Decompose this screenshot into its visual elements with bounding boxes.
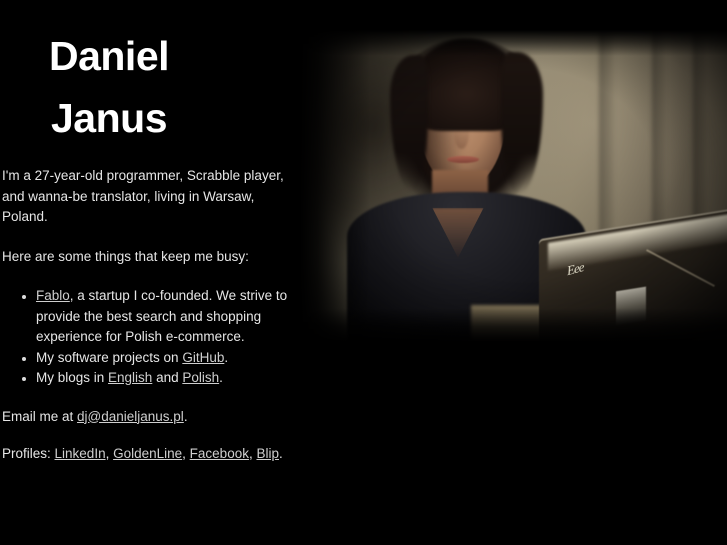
link-blog-english[interactable]: English — [108, 370, 152, 385]
link-profile-goldenline[interactable]: GoldenLine — [113, 446, 182, 461]
page-title-line-2: Janus — [51, 95, 167, 141]
link-fablo[interactable]: Fablo — [36, 288, 70, 303]
portrait-photo: Eee — [300, 30, 727, 342]
lead-paragraph: Here are some things that keep me busy: — [0, 247, 296, 268]
link-profile-blip[interactable]: Blip — [256, 446, 279, 461]
email-prefix: Email me at — [2, 409, 77, 424]
profiles-prefix: Profiles: — [2, 446, 55, 461]
link-github[interactable]: GitHub — [182, 350, 224, 365]
list-item-text: . — [219, 370, 223, 385]
page-title: Daniel Janus — [0, 0, 296, 149]
profiles-separator: , — [106, 446, 114, 461]
intro-paragraph: I'm a 27-year-old programmer, Scrabble p… — [0, 166, 296, 228]
content-column: Daniel Janus I'm a 27-year-old programme… — [0, 0, 296, 465]
list-item-text: My blogs in — [36, 370, 108, 385]
profiles-separator: , — [182, 446, 190, 461]
link-blog-polish[interactable]: Polish — [182, 370, 219, 385]
email-suffix: . — [184, 409, 188, 424]
list-item-text: My software projects on — [36, 350, 182, 365]
profiles-line: Profiles: LinkedIn, GoldenLine, Facebook… — [0, 444, 296, 465]
page-title-line-1: Daniel — [49, 33, 169, 79]
things-list: Fablo, a startup I co-founded. We strive… — [0, 286, 296, 389]
profiles-suffix: . — [279, 446, 283, 461]
list-item-text: . — [224, 350, 228, 365]
email-line: Email me at dj@danieljanus.pl. — [0, 407, 296, 428]
photo-wall-panel — [599, 30, 614, 261]
list-item-text: , a startup I co-founded. We strive to p… — [36, 288, 287, 344]
list-item: My software projects on GitHub. — [36, 348, 296, 369]
link-email-address[interactable]: dj@danieljanus.pl — [77, 409, 184, 424]
list-item: My blogs in English and Polish. — [36, 368, 296, 389]
list-item-text: and — [152, 370, 182, 385]
photo-laptop-sticker — [616, 287, 646, 326]
list-item: Fablo, a startup I co-founded. We strive… — [36, 286, 296, 348]
link-profile-linkedin[interactable]: LinkedIn — [55, 446, 106, 461]
portrait-photo-image: Eee — [300, 30, 727, 342]
link-profile-facebook[interactable]: Facebook — [190, 446, 249, 461]
